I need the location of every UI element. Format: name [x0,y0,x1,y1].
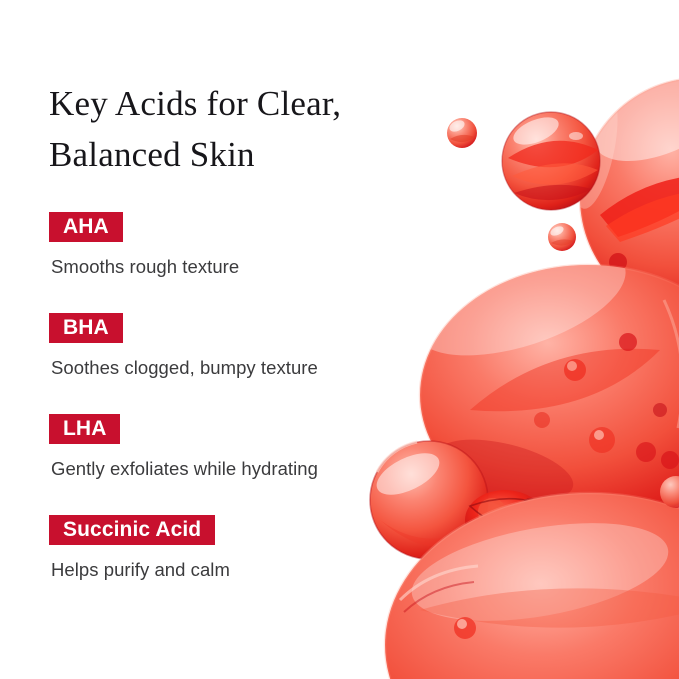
bubble-top-right-edge [566,62,679,318]
bubble-bottom-body [385,493,679,679]
badge-aha: AHA [49,212,123,242]
badge-succinic-acid: Succinic Acid [49,515,215,545]
acid-item-lha: LHA Gently exfoliates while hydrating [49,414,409,480]
acid-item-aha: AHA Smooths rough texture [49,212,409,278]
bubble-upper-body [401,222,679,525]
bubble-seam [470,514,679,563]
acid-item-bha: BHA Soothes clogged, bumpy texture [49,313,409,379]
bubble-right-edge-slivers [660,300,679,508]
badge-bha: BHA [49,313,123,343]
description-bha: Soothes clogged, bumpy texture [51,356,409,379]
description-succinic-acid: Helps purify and calm [51,558,409,581]
description-lha: Gently exfoliates while hydrating [51,457,409,480]
page-title: Key Acids for Clear, Balanced Skin [49,78,419,181]
text-column: Key Acids for Clear, Balanced Skin AHA S… [0,0,420,679]
bubble-tiny-mid [548,223,576,251]
acid-item-succinic-acid: Succinic Acid Helps purify and calm [49,515,409,581]
acid-list: AHA Smooths rough texture BHA Soothes cl… [49,212,409,582]
badge-lha: LHA [49,414,120,444]
product-infographic: Key Acids for Clear, Balanced Skin AHA S… [0,0,679,679]
description-aha: Smooths rough texture [51,255,409,278]
bubble-foam-cluster [465,490,562,552]
bubble-small-top [447,118,477,148]
bubble-medium-top [502,112,600,210]
